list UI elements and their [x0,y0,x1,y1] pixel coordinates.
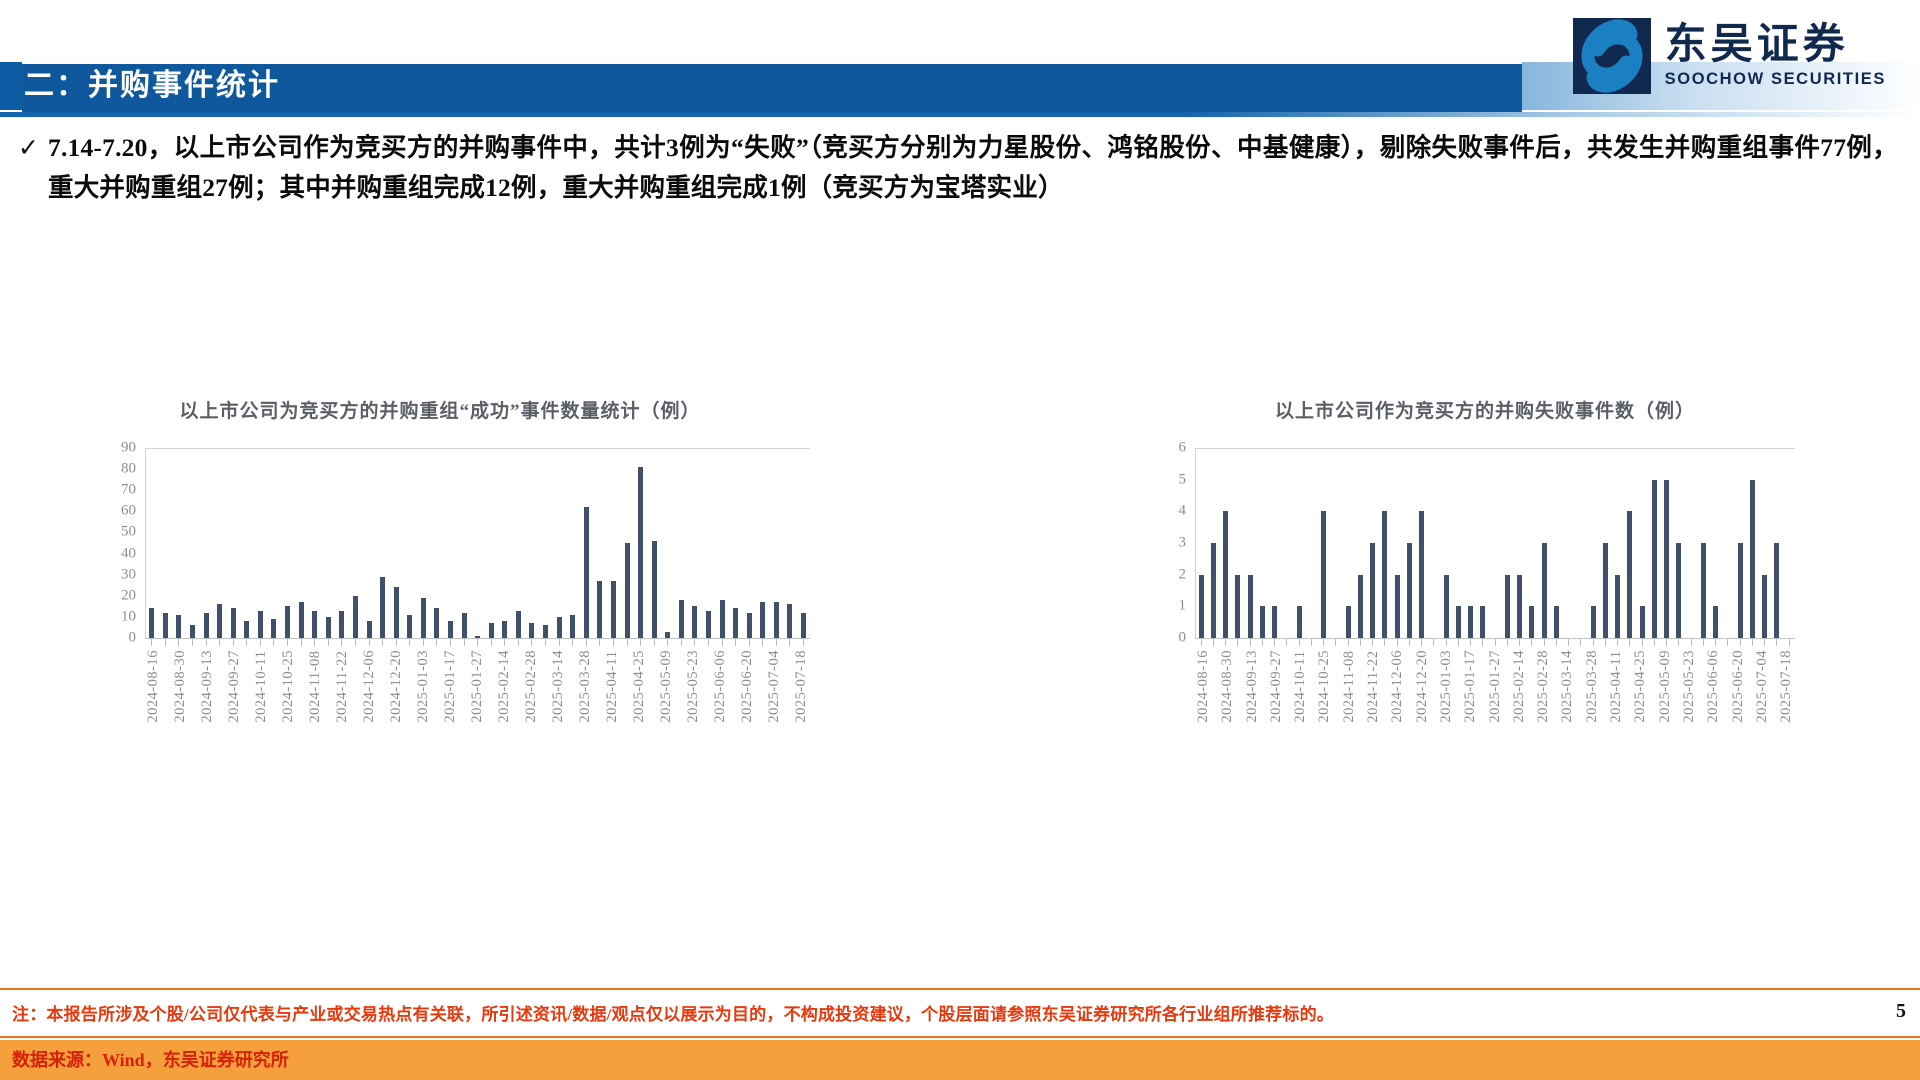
tick-slot [1697,639,1709,646]
x-label-slot [1576,650,1583,723]
x-label-slot: 2025-02-14 [496,650,513,723]
tick-slot [335,639,349,646]
bar[interactable] [312,611,317,638]
x-label-slot: 2024-11-22 [334,650,351,723]
x-axis-tick [287,639,288,646]
bar[interactable] [407,615,412,638]
x-axis-tick [1372,639,1373,646]
bar[interactable] [434,608,439,638]
x-axis-tick [1678,639,1679,646]
tick-slot [267,639,281,646]
bar[interactable] [353,596,358,638]
tick-slot [1256,639,1268,646]
bar[interactable] [1419,511,1424,638]
bar[interactable] [1297,606,1302,638]
x-axis-tick [1507,639,1508,646]
x-axis-labels: 2024-08-162024-08-302024-09-132024-09-27… [145,650,810,723]
x-axis-tick [1201,639,1202,646]
x-label-slot [1333,650,1340,723]
x-axis-tick-label: 2024-08-16 [145,650,162,723]
bar[interactable] [801,613,806,638]
tick-slot [1710,639,1722,646]
tick-slot [702,639,716,646]
bar-slot [647,448,661,638]
bar[interactable] [244,621,249,638]
x-axis-tick [627,639,628,646]
bar[interactable] [1529,606,1534,638]
summary-paragraph: 7.14-7.20，以上市公司作为竞买方的并购事件中，共计3例为“失败”（竞买方… [48,128,1898,208]
tick-slot [1746,639,1758,646]
tick-slot [498,639,512,646]
bar[interactable] [326,617,331,638]
bar-slot [1281,448,1293,638]
bar[interactable] [299,602,304,638]
x-label-slot: 2025-01-03 [1438,650,1455,723]
x-axis-tick [369,639,370,646]
x-label-slot: 2025-02-28 [523,650,540,723]
x-label-slot: 2025-05-23 [685,650,702,723]
bar[interactable] [706,611,711,638]
tick-slot [1465,639,1477,646]
x-label-slot: 2025-06-06 [712,650,729,723]
x-axis-tick [1531,639,1532,646]
bar-slot [240,448,254,638]
x-axis-tick-label: 2025-07-18 [793,650,810,723]
bar[interactable] [1444,575,1449,638]
bar[interactable] [1407,543,1412,638]
bar[interactable] [1517,575,1522,638]
x-axis-tick [1642,639,1643,646]
x-axis-tick-label: 2025-04-25 [631,650,648,723]
tick-slot [1550,639,1562,646]
x-axis-tick [599,639,600,646]
bar[interactable] [1321,511,1326,638]
disclaimer-note: 注：本报告所涉及个股/公司仅代表与产业或交易热点有关联，所引述资讯/数据/观点仅… [12,1000,1334,1025]
tick-slot [783,639,797,646]
x-label-slot: 2024-09-27 [226,650,243,723]
bar-slot [322,448,336,638]
x-axis-tick [1250,639,1251,646]
x-axis-tick-label: 2024-08-30 [1219,650,1236,723]
bar[interactable] [1358,575,1363,638]
bar-slot [620,448,634,638]
bar-slot [1232,448,1244,638]
x-label-slot: 2025-04-25 [1632,650,1649,723]
bar[interactable] [1750,480,1755,638]
x-label-slot [567,650,577,723]
x-axis-ticks [145,639,810,646]
bar[interactable] [584,507,589,638]
bar-slot [1599,448,1611,638]
x-label-slot: 2024-12-20 [388,650,405,723]
bar-slot [1403,448,1415,638]
x-label-slot [783,650,793,723]
bar[interactable] [516,611,521,638]
x-label-slot [324,650,334,723]
y-axis-tick-label: 5 [1179,471,1196,488]
x-axis-tick [1409,639,1410,646]
tick-slot [1452,639,1464,646]
x-axis-tick [1482,639,1483,646]
bar-slot [1256,448,1268,638]
tick-slot [1771,639,1783,646]
bar-series [1195,448,1795,638]
x-label-slot [405,650,415,723]
x-axis-tick [1691,639,1692,646]
bar-slot [1648,448,1660,638]
bar[interactable] [1395,575,1400,638]
bar[interactable] [1615,575,1620,638]
tick-slot [1722,639,1734,646]
bar-slot [281,448,295,638]
bar-slot [1587,448,1599,638]
x-axis-tick [464,639,465,646]
bar[interactable] [733,608,738,638]
bar[interactable] [190,625,195,638]
x-axis-tick [776,639,777,646]
tick-slot [254,639,268,646]
tick-slot [457,639,471,646]
x-label-slot: 2025-07-04 [766,650,783,723]
y-axis-tick-label: 1 [1179,598,1196,615]
bar[interactable] [1713,606,1718,638]
bar-slot [539,448,553,638]
x-label-slot: 2024-10-11 [253,650,270,723]
x-axis-tick [803,639,804,646]
bar[interactable] [1468,606,1473,638]
bar[interactable] [1235,575,1240,638]
x-axis-tick [1446,639,1447,646]
bar[interactable] [421,598,426,638]
x-label-slot: 2024-10-11 [1292,650,1309,723]
tick-slot [1612,639,1624,646]
bar[interactable] [1627,511,1632,638]
bar-slot [566,448,580,638]
bar[interactable] [163,613,168,638]
tick-slot [240,639,254,646]
bar[interactable] [1211,543,1216,638]
tick-slot [1342,639,1354,646]
success-chart-plot: 01020304050607080902024-08-162024-08-302… [145,448,810,638]
x-axis-tick [1727,639,1728,646]
bar[interactable] [1676,543,1681,638]
x-label-slot [378,650,388,723]
bar[interactable] [1554,606,1559,638]
tick-slot [1514,639,1526,646]
bar-slot [1759,448,1771,638]
bar[interactable] [1762,575,1767,638]
bar[interactable] [258,611,263,638]
bar-slot [675,448,689,638]
x-axis-tick-label: 2025-03-14 [1559,650,1576,723]
bar-slot [783,448,797,638]
bar[interactable] [217,604,222,638]
x-label-slot: 2025-06-20 [739,650,756,723]
bar[interactable] [1370,543,1375,638]
bar[interactable] [367,621,372,638]
x-axis-tick [1593,639,1594,646]
bar[interactable] [760,602,765,638]
x-axis-tick-label: 2024-10-25 [280,650,297,723]
bar[interactable] [1652,480,1657,638]
x-axis-tick-label: 2024-12-20 [388,650,405,723]
bar-slot [199,448,213,638]
x-axis-tick-label: 2024-08-30 [172,650,189,723]
x-label-slot: 2024-09-13 [199,650,216,723]
bar-slot [294,448,308,638]
x-axis-tick-label: 2025-06-20 [739,650,756,723]
tick-slot [186,639,200,646]
tick-slot [770,639,784,646]
bar[interactable] [502,621,507,638]
tick-slot [172,639,186,646]
y-axis-tick-label: 0 [129,630,146,647]
bar[interactable] [1664,480,1669,638]
bar[interactable] [204,613,209,638]
x-label-slot: 2024-10-25 [1316,650,1333,723]
bar-slot [213,448,227,638]
x-label-slot [756,650,766,723]
bar-slot [349,448,363,638]
bar[interactable] [1505,575,1510,638]
bar-slot [1771,448,1783,638]
bar[interactable] [1640,606,1645,638]
tick-slot [512,639,526,646]
tick-slot [580,639,594,646]
x-label-slot: 2025-06-20 [1730,650,1747,723]
x-label-slot: 2025-06-06 [1705,650,1722,723]
bar-slot [1612,448,1624,638]
bar-slot [362,448,376,638]
x-axis-tick [192,639,193,646]
bar[interactable] [679,600,684,638]
bar[interactable] [1774,543,1779,638]
y-axis-tick-label: 30 [121,566,145,583]
bar-slot [1477,448,1489,638]
bar[interactable] [489,623,494,638]
bar-slot [1734,448,1746,638]
x-axis-tick-label: 2024-11-22 [1365,650,1382,723]
bar[interactable] [1701,543,1706,638]
tick-slot [389,639,403,646]
bar-slot [145,448,159,638]
x-label-slot: 2025-01-27 [1487,650,1504,723]
tick-slot [322,639,336,646]
x-axis-tick [1360,639,1361,646]
tick-slot [675,639,689,646]
tick-slot [647,639,661,646]
bar-slot [661,448,675,638]
tick-slot [1244,639,1256,646]
bar-slot [1220,448,1232,638]
bar[interactable] [1456,606,1461,638]
bar-slot [1563,448,1575,638]
x-label-slot: 2025-01-17 [1462,650,1479,723]
x-axis-tick-label: 2025-03-28 [577,650,594,723]
bar[interactable] [625,543,630,638]
bar-slot [1661,448,1673,638]
x-axis-tick [1715,639,1716,646]
bar-slot [1624,448,1636,638]
x-axis-tick [382,639,383,646]
bar[interactable] [176,615,181,638]
tick-slot [444,639,458,646]
x-label-slot: 2024-12-06 [1389,650,1406,723]
x-label-slot [702,650,712,723]
bar[interactable] [692,606,697,638]
bar-slot [308,448,322,638]
bar-slot [1367,448,1379,638]
x-label-slot: 2025-01-27 [469,650,486,723]
bar[interactable] [1738,543,1743,638]
x-axis-tick [1274,639,1275,646]
y-axis-tick-label: 60 [121,503,145,520]
x-axis-tick-label: 2025-02-14 [1511,650,1528,723]
bar[interactable] [597,581,602,638]
bar[interactable] [231,608,236,638]
x-label-slot: 2025-03-14 [550,650,567,723]
tick-slot [226,639,240,646]
bar[interactable] [1480,606,1485,638]
x-axis-tick [694,639,695,646]
x-axis-tick [531,639,532,646]
bar[interactable] [271,619,276,638]
x-label-slot: 2025-03-28 [577,650,594,723]
x-label-slot [486,650,496,723]
x-label-slot [297,650,307,723]
bar[interactable] [339,611,344,638]
bar[interactable] [1272,606,1277,638]
tick-slot [1440,639,1452,646]
x-label-slot [594,650,604,723]
bar-slot [1440,448,1452,638]
bar[interactable] [1248,575,1253,638]
bar[interactable] [1382,511,1387,638]
bar-slot [159,448,173,638]
bar[interactable] [1260,606,1265,638]
y-axis-tick-label: 90 [121,440,145,457]
bar[interactable] [462,613,467,638]
bar[interactable] [611,581,616,638]
bar-series [145,448,810,638]
x-axis-tick [1764,639,1765,646]
bar[interactable] [1199,575,1204,638]
x-axis-tick [1213,639,1214,646]
bar[interactable] [570,615,575,638]
tick-slot [1538,639,1550,646]
x-label-slot [216,650,226,723]
tick-slot [294,639,308,646]
bar-slot [715,448,729,638]
x-axis-tick-label: 2025-01-03 [415,650,432,723]
bar-slot [742,448,756,638]
bar[interactable] [529,623,534,638]
bar[interactable] [638,467,643,638]
bar-slot [471,448,485,638]
y-axis-tick-label: 2 [1179,566,1196,583]
bar[interactable] [774,602,779,638]
x-axis-tick [1384,639,1385,646]
x-axis-tick-label: 2024-11-08 [1341,650,1358,723]
tick-slot [1207,639,1219,646]
bar[interactable] [394,587,399,638]
bar-slot [1575,448,1587,638]
bar[interactable] [149,608,154,638]
x-axis-tick [1397,639,1398,646]
bar-slot [552,448,566,638]
x-axis-tick [654,639,655,646]
x-axis-tick [1433,639,1434,646]
bar-slot [1318,448,1330,638]
bar[interactable] [747,613,752,638]
x-axis-tick-label: 2024-09-27 [226,650,243,723]
tick-slot [1354,639,1366,646]
bar-slot [1305,448,1317,638]
x-axis-tick [1421,639,1422,646]
bar[interactable] [652,541,657,638]
bar[interactable] [380,577,385,638]
tick-slot [1563,639,1575,646]
x-axis-tick [178,639,179,646]
tick-slot [729,639,743,646]
bar[interactable] [787,604,792,638]
x-axis-labels: 2024-08-162024-08-302024-09-132024-09-27… [1195,650,1795,723]
section-title: 二：并购事件统计 [24,66,280,106]
tick-slot [566,639,580,646]
x-axis-tick-label: 2024-09-13 [199,650,216,723]
x-axis-tick [1740,639,1741,646]
y-axis-tick-label: 70 [121,482,145,499]
tick-slot [1232,639,1244,646]
tick-slot [1305,639,1317,646]
failure-chart: 以上市公司作为竞买方的并购失败事件数（例） 01234562024-08-162… [1090,396,1880,916]
x-axis-tick-label: 2025-01-27 [469,650,486,723]
bar[interactable] [543,625,548,638]
x-axis-tick-label: 2025-03-28 [1584,650,1601,723]
bar-slot [1550,448,1562,638]
bar[interactable] [720,600,725,638]
x-axis-tick [1286,639,1287,646]
tick-slot [1624,639,1636,646]
bar[interactable] [448,621,453,638]
tick-slot [1501,639,1513,646]
tick-slot [1526,639,1538,646]
x-label-slot: 2025-05-23 [1681,650,1698,723]
bar-slot [580,448,594,638]
x-axis-tick [1776,639,1777,646]
x-axis-tick-label: 2025-04-11 [604,650,621,723]
bar[interactable] [557,617,562,638]
x-label-slot: 2025-01-03 [415,650,432,723]
bar[interactable] [1223,511,1228,638]
brand-logo-text: 东吴证券 SOOCHOW SECURITIES [1665,24,1886,88]
bar[interactable] [1603,543,1608,638]
x-axis-tick-label: 2024-09-27 [1268,650,1285,723]
bar[interactable] [1591,606,1596,638]
bar-slot [1330,448,1342,638]
x-label-slot [1236,650,1243,723]
x-label-slot [621,650,631,723]
tick-slot [1734,639,1746,646]
bar[interactable] [1542,543,1547,638]
bar[interactable] [285,606,290,638]
bar-slot [1636,448,1648,638]
bar-slot [1685,448,1697,638]
success-chart-title: 以上市公司为竞买方的并购重组“成功”事件数量统计（例） [40,396,840,423]
tick-slot [756,639,770,646]
y-axis-tick-label: 80 [121,461,145,478]
bar[interactable] [1346,606,1351,638]
